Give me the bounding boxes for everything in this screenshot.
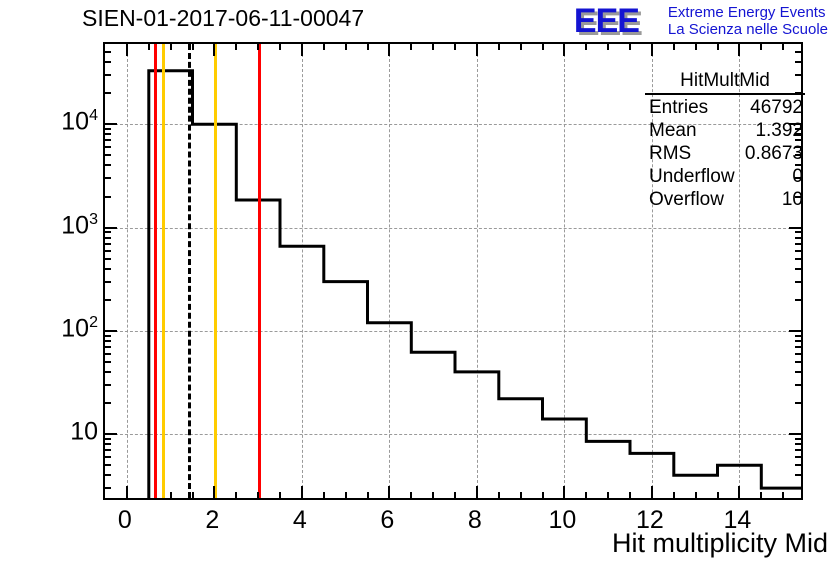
y-axis-tick bbox=[105, 196, 111, 198]
y-axis-tick bbox=[105, 371, 111, 373]
eee-logo-line1: Extreme Energy Events bbox=[668, 4, 828, 21]
x-axis-tick bbox=[498, 44, 500, 50]
y-axis-tick bbox=[795, 237, 801, 239]
x-axis-tick bbox=[607, 44, 609, 50]
eee-logo-line2: La Scienza nelle Scuole bbox=[668, 21, 828, 38]
x-axis-tick bbox=[717, 492, 719, 498]
stats-row-value: 0.8673 bbox=[745, 142, 803, 165]
stats-title: HitMultMid bbox=[645, 70, 805, 95]
y-axis-label: 10 bbox=[46, 418, 98, 447]
y-axis-tick bbox=[105, 346, 111, 348]
y-axis-tick bbox=[105, 123, 117, 125]
y-axis-tick bbox=[789, 330, 801, 332]
y-axis-tick bbox=[795, 299, 801, 301]
y-axis-tick bbox=[105, 487, 111, 489]
y-axis-tick bbox=[105, 299, 111, 301]
stats-box: HitMultMid Entries46792Mean1.392RMS0.867… bbox=[645, 70, 805, 211]
x-axis-tick bbox=[673, 492, 675, 498]
x-axis-tick bbox=[126, 486, 128, 498]
stats-row-label: Overflow bbox=[649, 188, 724, 211]
x-axis-tick bbox=[323, 492, 325, 498]
stats-row: Mean1.392 bbox=[645, 119, 805, 142]
x-axis-tick bbox=[192, 492, 194, 498]
y-axis-tick bbox=[795, 250, 801, 252]
x-axis-tick bbox=[257, 44, 259, 50]
y-axis-tick bbox=[105, 449, 111, 451]
y-axis-tick bbox=[105, 177, 111, 179]
y-axis-tick bbox=[795, 340, 801, 342]
x-axis-tick bbox=[782, 44, 784, 50]
x-axis-tick bbox=[367, 492, 369, 498]
y-axis-label: 102 bbox=[46, 314, 98, 343]
stats-row: Overflow10 bbox=[645, 188, 805, 211]
x-axis-tick bbox=[782, 492, 784, 498]
x-axis-tick bbox=[323, 44, 325, 50]
y-axis-tick bbox=[105, 164, 111, 166]
x-axis-label: 8 bbox=[468, 506, 482, 535]
y-axis-tick bbox=[795, 346, 801, 348]
marker-red-line-right bbox=[258, 44, 261, 498]
stats-row: Entries46792 bbox=[645, 96, 805, 119]
y-axis-tick bbox=[795, 384, 801, 386]
x-axis-tick bbox=[213, 44, 215, 56]
x-axis-tick bbox=[454, 492, 456, 498]
x-axis-tick bbox=[498, 492, 500, 498]
x-axis-tick bbox=[388, 486, 390, 498]
x-axis-tick bbox=[520, 44, 522, 50]
y-axis-tick bbox=[105, 74, 111, 76]
y-axis-tick bbox=[105, 330, 117, 332]
x-axis-tick bbox=[651, 44, 653, 56]
y-axis-tick bbox=[105, 92, 111, 94]
x-axis-tick bbox=[651, 486, 653, 498]
y-axis-tick bbox=[795, 464, 801, 466]
stats-row-label: RMS bbox=[649, 142, 691, 165]
eee-logo: EEE EEE Extreme Energy Events La Scienza… bbox=[574, 2, 828, 40]
x-axis-label: 2 bbox=[205, 506, 219, 535]
x-axis-tick bbox=[585, 44, 587, 50]
stats-row-value: 1.392 bbox=[755, 119, 803, 142]
y-axis-tick bbox=[105, 133, 111, 135]
y-axis-tick bbox=[105, 243, 111, 245]
y-axis-tick bbox=[105, 227, 117, 229]
marker-black-dashed-mean bbox=[188, 44, 191, 498]
y-axis-label: 104 bbox=[46, 108, 98, 137]
x-axis-tick bbox=[520, 492, 522, 498]
x-axis-tick bbox=[476, 486, 478, 498]
page-title: SIEN-01-2017-06-11-00047 bbox=[82, 5, 364, 32]
x-axis-tick bbox=[760, 492, 762, 498]
y-axis-tick bbox=[105, 384, 111, 386]
y-axis-tick bbox=[795, 371, 801, 373]
y-axis-tick bbox=[105, 456, 111, 458]
stats-row-value: 46792 bbox=[750, 96, 803, 119]
x-axis-label: 12 bbox=[636, 506, 664, 535]
x-axis-tick bbox=[235, 492, 237, 498]
x-axis-tick bbox=[738, 44, 740, 56]
y-axis-tick bbox=[795, 268, 801, 270]
y-axis-tick bbox=[105, 268, 111, 270]
x-axis-tick bbox=[629, 492, 631, 498]
y-axis-tick bbox=[105, 281, 111, 283]
y-axis-tick bbox=[795, 353, 801, 355]
y-axis-tick bbox=[105, 61, 111, 63]
stats-rows: Entries46792Mean1.392RMS0.8673Underflow0… bbox=[645, 96, 805, 211]
x-axis-label: 6 bbox=[380, 506, 394, 535]
stats-row-label: Entries bbox=[649, 96, 708, 119]
y-axis-tick bbox=[795, 456, 801, 458]
x-axis-tick bbox=[563, 486, 565, 498]
y-axis-tick bbox=[105, 464, 111, 466]
x-axis-label: 0 bbox=[118, 506, 132, 535]
y-axis-tick bbox=[795, 258, 801, 260]
x-axis-label: 14 bbox=[723, 506, 751, 535]
x-axis-tick bbox=[432, 44, 434, 50]
y-axis-tick bbox=[795, 474, 801, 476]
x-axis-tick bbox=[673, 44, 675, 50]
x-axis-tick bbox=[695, 44, 697, 50]
y-axis-tick bbox=[795, 449, 801, 451]
stats-row-label: Underflow bbox=[649, 165, 735, 188]
y-axis-tick bbox=[795, 361, 801, 363]
x-axis-tick bbox=[279, 492, 281, 498]
y-axis-tick bbox=[795, 443, 801, 445]
y-axis-tick bbox=[795, 402, 801, 404]
x-axis-tick bbox=[279, 44, 281, 50]
stats-row: RMS0.8673 bbox=[645, 142, 805, 165]
y-axis-tick bbox=[105, 154, 111, 156]
y-axis-tick bbox=[105, 474, 111, 476]
x-axis-label: 4 bbox=[293, 506, 307, 535]
y-axis-tick bbox=[795, 51, 801, 53]
y-axis-tick bbox=[105, 438, 111, 440]
x-axis-tick bbox=[235, 44, 237, 50]
y-axis-tick bbox=[105, 231, 111, 233]
x-axis-tick bbox=[585, 492, 587, 498]
x-axis-label: 10 bbox=[548, 506, 576, 535]
y-axis-tick bbox=[795, 335, 801, 337]
x-axis-tick bbox=[760, 44, 762, 50]
stats-row-value: 10 bbox=[782, 188, 803, 211]
y-axis-tick bbox=[795, 281, 801, 283]
eee-logo-mark: EEE EEE bbox=[574, 4, 662, 38]
marker-orange-line-right bbox=[214, 44, 217, 498]
y-axis-tick bbox=[105, 402, 111, 404]
x-axis-tick bbox=[345, 492, 347, 498]
x-axis-tick bbox=[388, 44, 390, 56]
y-axis-tick bbox=[795, 61, 801, 63]
stats-row-value: 0 bbox=[792, 165, 803, 188]
x-axis-tick bbox=[542, 492, 544, 498]
eee-logo-mark-front: EEE bbox=[574, 4, 639, 38]
x-axis-tick bbox=[148, 44, 150, 50]
x-axis-tick bbox=[542, 44, 544, 50]
y-axis-tick bbox=[105, 443, 111, 445]
y-axis-tick bbox=[789, 433, 801, 435]
x-axis-tick bbox=[454, 44, 456, 50]
x-axis-tick bbox=[476, 44, 478, 56]
x-axis-tick bbox=[695, 492, 697, 498]
x-axis-tick bbox=[717, 44, 719, 50]
x-axis-tick bbox=[213, 486, 215, 498]
y-axis-label: 103 bbox=[46, 211, 98, 240]
eee-logo-text: Extreme Energy Events La Scienza nelle S… bbox=[668, 4, 828, 38]
x-axis-tick bbox=[192, 44, 194, 50]
y-axis-tick bbox=[795, 487, 801, 489]
marker-orange-line-left bbox=[162, 44, 165, 498]
x-axis-tick bbox=[301, 44, 303, 56]
x-axis-tick bbox=[170, 44, 172, 50]
x-axis-tick bbox=[432, 492, 434, 498]
marker-red-line-left bbox=[154, 44, 157, 498]
y-axis-tick bbox=[105, 340, 111, 342]
x-axis-tick bbox=[148, 492, 150, 498]
x-axis-tick bbox=[301, 486, 303, 498]
y-axis-tick bbox=[105, 139, 111, 141]
x-axis-tick bbox=[629, 44, 631, 50]
stats-row: Underflow0 bbox=[645, 165, 805, 188]
y-axis-tick bbox=[105, 433, 117, 435]
stats-row-label: Mean bbox=[649, 119, 697, 142]
y-axis-tick bbox=[105, 353, 111, 355]
y-axis-tick bbox=[105, 361, 111, 363]
x-axis-tick bbox=[345, 44, 347, 50]
x-axis-tick bbox=[410, 492, 412, 498]
y-axis-tick bbox=[789, 227, 801, 229]
y-axis-tick bbox=[105, 146, 111, 148]
y-axis-tick bbox=[795, 438, 801, 440]
x-axis-tick bbox=[257, 492, 259, 498]
x-axis-tick bbox=[738, 486, 740, 498]
y-axis-tick bbox=[105, 258, 111, 260]
y-axis-tick bbox=[105, 128, 111, 130]
x-axis-tick bbox=[170, 492, 172, 498]
x-axis-tick bbox=[367, 44, 369, 50]
x-axis-tick bbox=[126, 44, 128, 56]
x-axis-tick bbox=[607, 492, 609, 498]
y-axis-tick bbox=[105, 237, 111, 239]
y-axis-tick bbox=[105, 335, 111, 337]
y-axis-tick bbox=[795, 243, 801, 245]
x-axis-tick bbox=[563, 44, 565, 56]
y-axis-tick bbox=[105, 250, 111, 252]
x-axis-tick bbox=[410, 44, 412, 50]
y-axis-tick bbox=[795, 231, 801, 233]
y-axis-tick bbox=[105, 51, 111, 53]
